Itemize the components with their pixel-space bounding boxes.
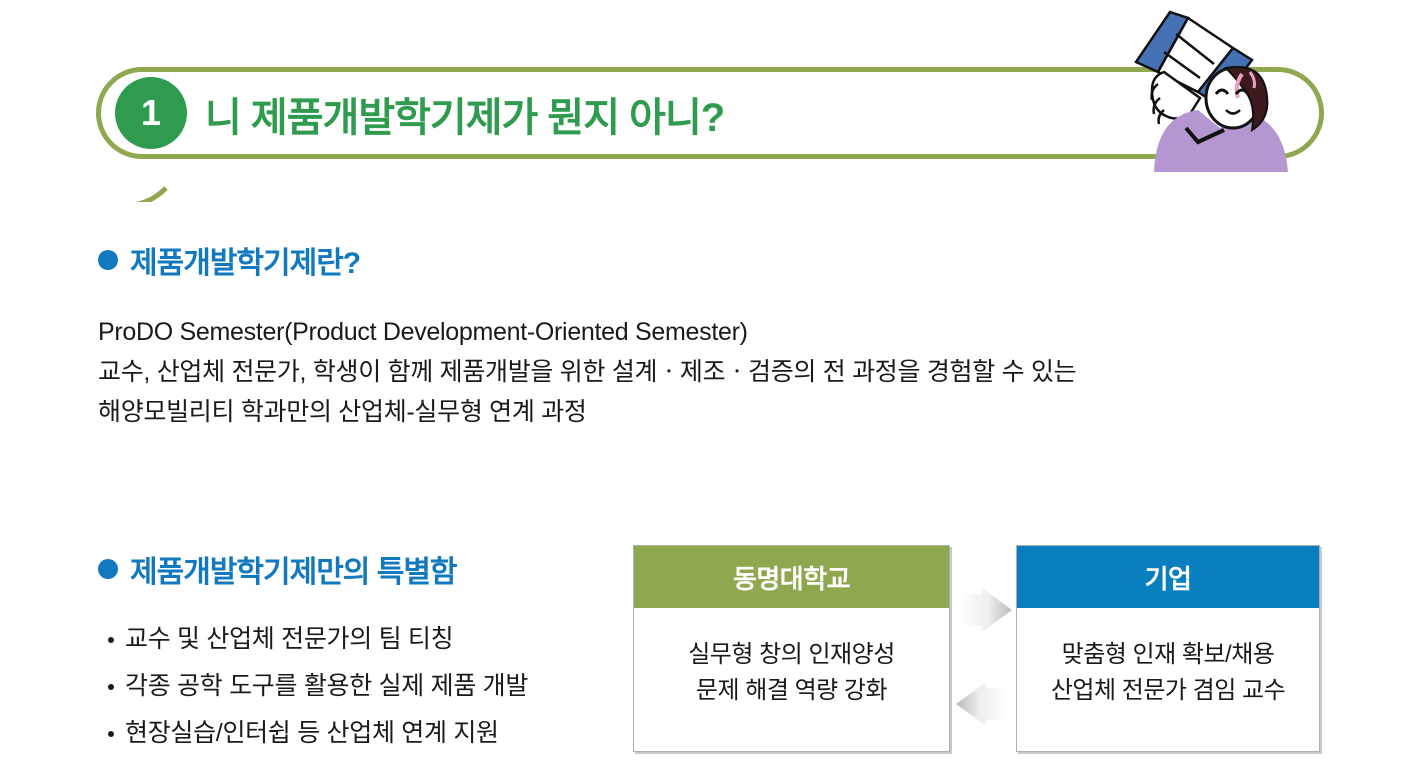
panel-university: 동명대학교 실무형 창의 인재양성 문제 해결 역량 강화 — [633, 545, 950, 752]
definition-paragraph: ProDO Semester(Product Development-Orien… — [98, 312, 1338, 432]
panel-company-header: 기업 — [1017, 546, 1319, 608]
panel-company: 기업 맞춤형 인재 확보/채용 산업체 전문가 겸임 교수 — [1016, 545, 1320, 752]
panel-exchange-arrows — [950, 588, 1018, 732]
panel-university-header: 동명대학교 — [634, 546, 949, 608]
list-item: 각종 공학 도구를 활용한 실제 제품 개발 — [108, 663, 628, 710]
panel-university-body: 실무형 창의 인재양성 문제 해결 역량 강화 — [634, 608, 949, 751]
page-title: 니 제품개발학기제가 뭔지 아니? — [205, 78, 724, 150]
section-heading-definition: 제품개발학기제란? — [98, 238, 360, 282]
list-item: 현장실습/인터쉽 등 산업체 연계 지원 — [108, 710, 628, 757]
bullet-dot-icon — [98, 559, 118, 579]
list-bullet-icon — [108, 684, 114, 690]
definition-line-2: 교수, 산업체 전문가, 학생이 함께 제품개발을 위한 설계ㆍ제조ㆍ검증의 전… — [98, 352, 1338, 392]
panel-company-body: 맞춤형 인재 확보/채용 산업체 전문가 겸임 교수 — [1017, 608, 1319, 751]
section-heading-definition-label: 제품개발학기제란? — [130, 238, 360, 282]
panel-company-line-1: 맞춤형 인재 확보/채용 — [1062, 637, 1275, 673]
list-item-label: 각종 공학 도구를 활용한 실제 제품 개발 — [125, 663, 528, 710]
bullet-dot-icon — [98, 250, 118, 270]
panel-university-line-2: 문제 해결 역량 강화 — [696, 673, 887, 709]
arrow-left-icon — [956, 682, 1008, 726]
list-item-label: 교수 및 산업체 전문가의 팀 티칭 — [125, 616, 453, 663]
step-number-badge: 1 — [115, 77, 187, 149]
definition-line-1: ProDO Semester(Product Development-Orien… — [98, 312, 1338, 352]
panel-company-line-2: 산업체 전문가 겸임 교수 — [1051, 673, 1285, 709]
list-bullet-icon — [108, 731, 114, 737]
section-heading-special-label: 제품개발학기제만의 특별함 — [130, 547, 457, 591]
list-bullet-icon — [108, 637, 114, 643]
list-item-label: 현장실습/인터쉽 등 산업체 연계 지원 — [125, 710, 499, 757]
definition-line-3: 해양모빌리티 학과만의 산업체-실무형 연계 과정 — [98, 392, 1338, 432]
list-item: 교수 및 산업체 전문가의 팀 티칭 — [108, 616, 628, 663]
feature-list: 교수 및 산업체 전문가의 팀 티칭 각종 공학 도구를 활용한 실제 제품 개… — [108, 616, 628, 757]
section-heading-special: 제품개발학기제만의 특별함 — [98, 547, 457, 591]
person-with-megaphone-icon — [1128, 0, 1328, 172]
panel-university-line-1: 실무형 창의 인재양성 — [688, 637, 895, 673]
arrow-right-icon — [960, 588, 1012, 632]
